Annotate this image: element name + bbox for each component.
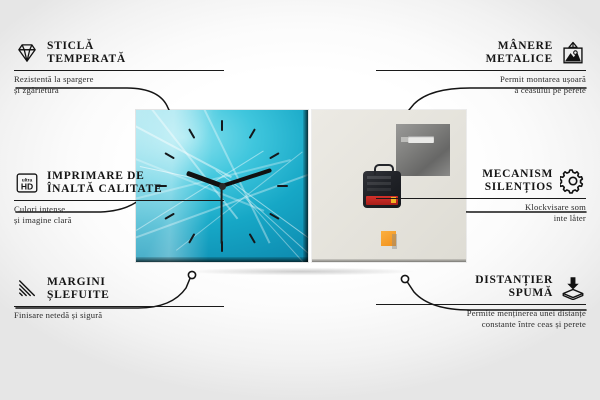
divider: [14, 70, 224, 71]
feature-foam-spacer[interactable]: DISTANȚIER SPUMĂ Permite menținerea unei…: [376, 274, 586, 330]
feature-subtitle: Klockvisare som inte låter: [376, 202, 586, 224]
feature-title: MECANISM SILENȚIOS: [482, 168, 553, 195]
divider: [14, 200, 224, 201]
feature-title: MÂNERE METALICE: [486, 40, 553, 67]
feature-subtitle: Rezistentă la spargere și zgârietura: [14, 74, 224, 96]
feature-subtitle: Permite menținerea unei distanțe constan…: [376, 308, 586, 330]
clock-bottom-edge: [136, 257, 308, 262]
diamond-icon: [14, 40, 40, 66]
feature-polished-edges[interactable]: MARGINI ȘLEFUITE Finisare netedă și sigu…: [14, 276, 224, 321]
divider: [376, 198, 586, 199]
foam-spacer: [381, 231, 396, 246]
feature-tempered-glass[interactable]: STICLĂ TEMPERATĂ Rezistentă la spargere …: [14, 40, 224, 96]
feature-title: DISTANȚIER SPUMĂ: [475, 274, 553, 301]
feature-high-quality-print[interactable]: ultra HD IMPRIMARE DE ÎNALTĂ CALITATE Cu…: [14, 170, 224, 226]
feature-subtitle: Finisare netedă și sigură: [14, 310, 224, 321]
feature-title: MARGINI ȘLEFUITE: [47, 276, 109, 303]
press-down-foam-icon: [560, 274, 586, 300]
svg-text:HD: HD: [21, 182, 33, 192]
polished-edge-icon: [14, 276, 40, 302]
infographic-canvas: STICLĂ TEMPERATĂ Rezistentă la spargere …: [0, 0, 600, 400]
divider: [376, 70, 586, 71]
feature-metal-hangers[interactable]: MÂNERE METALICE Permit montarea ușoară a…: [376, 40, 586, 96]
divider: [14, 306, 224, 307]
feature-subtitle: Permit montarea ușoară a ceasului pe per…: [376, 74, 586, 96]
divider: [376, 304, 586, 305]
gear-icon: [560, 168, 586, 194]
back-bottom-edge: [312, 259, 466, 262]
ultra-hd-badge-icon: ultra HD: [14, 170, 40, 196]
feature-silent-mechanism[interactable]: MECANISM SILENȚIOS Klockvisare som inte …: [376, 168, 586, 224]
clock-right-edge: [303, 110, 308, 262]
feature-title: STICLĂ TEMPERATĂ: [47, 40, 126, 67]
picture-hanger-icon: [560, 40, 586, 66]
feature-subtitle: Culori intense și imagine clară: [14, 204, 224, 226]
hanger-slot: [408, 136, 434, 143]
feature-title: IMPRIMARE DE ÎNALTĂ CALITATE: [47, 170, 162, 197]
